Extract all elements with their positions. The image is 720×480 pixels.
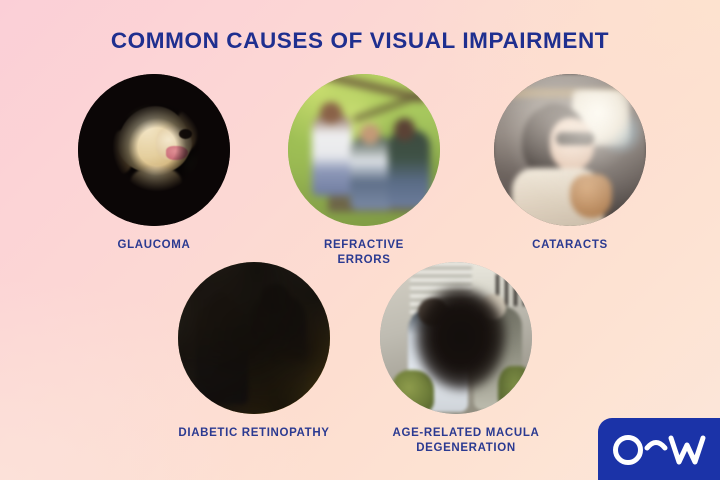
cause-image-refractive-errors <box>288 74 440 226</box>
cause-label-age-related-macula-degeneration: AGE-RELATED MACULA DEGENERATION <box>366 426 566 456</box>
cause-label-cataracts: CATARACTS <box>490 238 650 253</box>
refractive-errors-scene-icon <box>288 74 440 226</box>
brand-logo[interactable] <box>598 418 720 480</box>
cause-label-glaucoma: GLAUCOMA <box>74 238 234 253</box>
tunnel-vision-vignette-icon <box>78 74 230 226</box>
retinopathy-blotch-overlay-icon <box>178 262 330 414</box>
cause-label-diabetic-retinopathy: DIABETIC RETINOPATHY <box>154 426 354 441</box>
cause-image-glaucoma <box>78 74 230 226</box>
cause-image-cataracts <box>494 74 646 226</box>
cataract-haze-overlay-icon <box>494 74 646 226</box>
cause-image-age-related-macula-degeneration <box>380 262 532 414</box>
central-scotoma-overlay-icon <box>416 288 506 390</box>
page-title: COMMON CAUSES OF VISUAL IMPAIRMENT <box>0 28 720 54</box>
cause-image-diabetic-retinopathy <box>178 262 330 414</box>
o-w-logo-icon <box>611 432 707 466</box>
infographic-poster: COMMON CAUSES OF VISUAL IMPAIRMENT GLAUC… <box>0 0 720 480</box>
